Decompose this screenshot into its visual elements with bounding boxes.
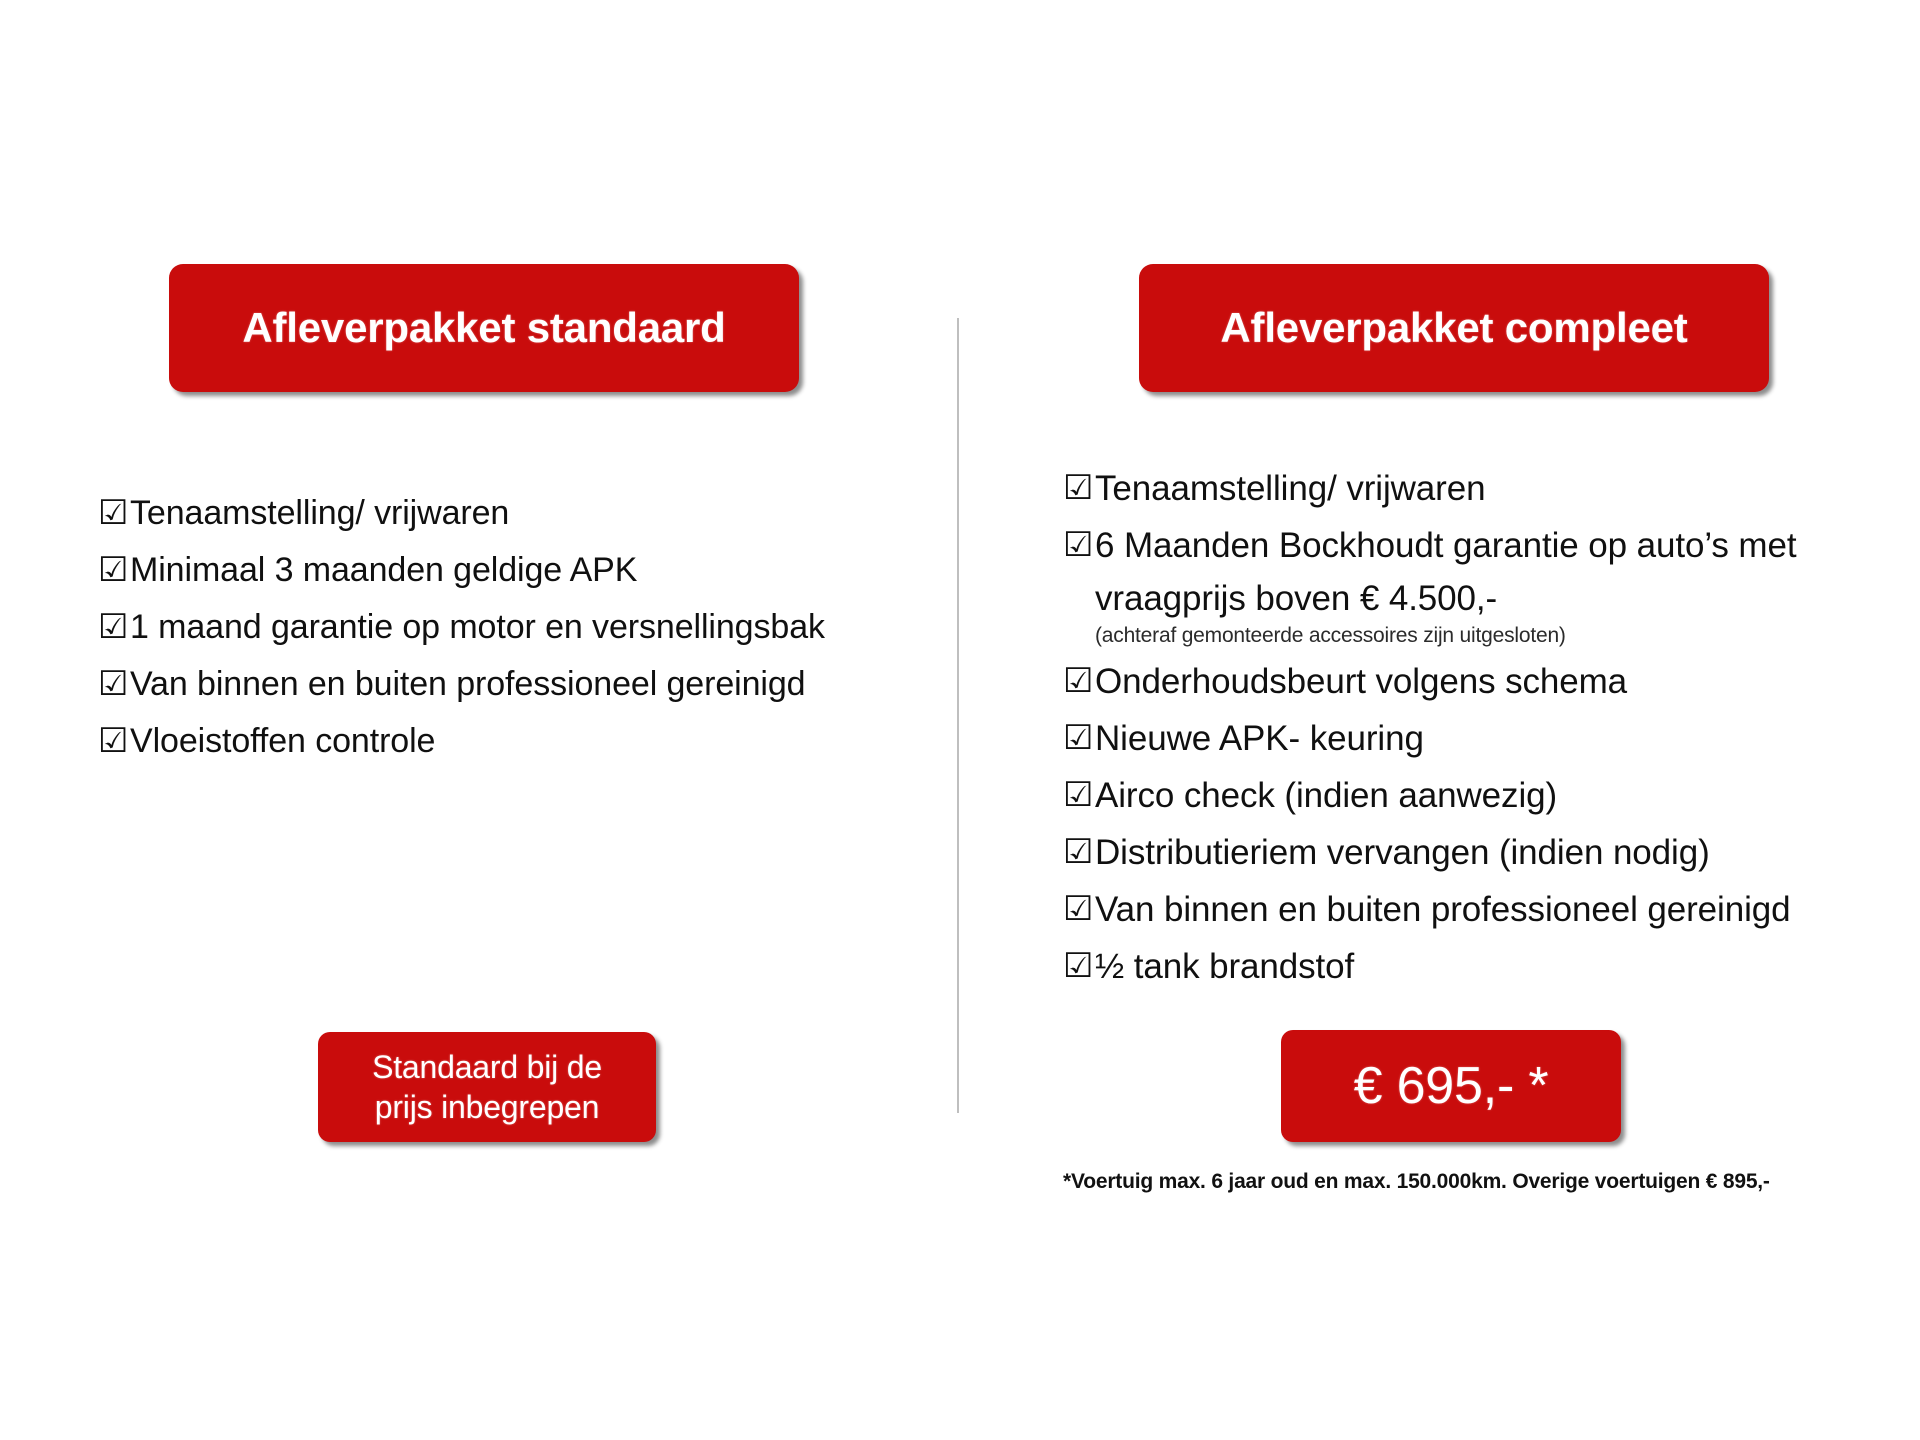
list-item: ☑ 6 Maanden Bockhoudt garantie op auto’s… [1063, 519, 1893, 651]
price-footnote: *Voertuig max. 6 jaar oud en max. 150.00… [1063, 1170, 1893, 1194]
checkbox-checked-icon: ☑ [1063, 826, 1095, 879]
feature-text: Tenaamstelling/ vrijwaren [1095, 462, 1893, 515]
feature-text: 1 maand garantie op motor en versnelling… [130, 601, 878, 654]
feature-list-compleet: ☑ Tenaamstelling/ vrijwaren ☑ 6 Maanden … [1063, 462, 1893, 997]
price-badge-line-2: prijs inbegrepen [375, 1087, 600, 1127]
list-item: ☑ Airco check (indien aanwezig) [1063, 769, 1893, 822]
checkbox-checked-icon: ☑ [98, 601, 130, 654]
feature-note: (achteraf gemonteerde accessoires zijn u… [1095, 621, 1893, 651]
list-item: ☑ Nieuwe APK- keuring [1063, 712, 1893, 765]
checkbox-checked-icon: ☑ [98, 487, 130, 540]
checkbox-checked-icon: ☑ [1063, 655, 1095, 708]
checkbox-checked-icon: ☑ [1063, 519, 1095, 572]
checkbox-checked-icon: ☑ [98, 544, 130, 597]
feature-text: Nieuwe APK- keuring [1095, 712, 1893, 765]
feature-text: Vloeistoffen controle [130, 715, 878, 768]
feature-text: Minimaal 3 maanden geldige APK [130, 544, 878, 597]
checkbox-checked-icon: ☑ [1063, 883, 1095, 936]
feature-text: Onderhoudsbeurt volgens schema [1095, 655, 1893, 708]
list-item: ☑ Onderhoudsbeurt volgens schema [1063, 655, 1893, 708]
list-item: ☑ Van binnen en buiten professioneel ger… [1063, 883, 1893, 936]
checkbox-checked-icon: ☑ [1063, 769, 1095, 822]
checkbox-checked-icon: ☑ [98, 715, 130, 768]
package-title-compleet: Afleverpakket compleet [1139, 264, 1769, 392]
feature-text: Tenaamstelling/ vrijwaren [130, 487, 878, 540]
column-divider [957, 318, 959, 1113]
list-item: ☑ Distributieriem vervangen (indien nodi… [1063, 826, 1893, 879]
feature-text: 6 Maanden Bockhoudt garantie op auto’s m… [1095, 519, 1893, 651]
checkbox-checked-icon: ☑ [1063, 712, 1095, 765]
package-title-standaard: Afleverpakket standaard [169, 264, 799, 392]
feature-text: Distributieriem vervangen (indien nodig) [1095, 826, 1893, 879]
feature-text: Airco check (indien aanwezig) [1095, 769, 1893, 822]
list-item: ☑ Tenaamstelling/ vrijwaren [1063, 462, 1893, 515]
feature-text: ½ tank brandstof [1095, 940, 1893, 993]
feature-text: Van binnen en buiten professioneel gerei… [130, 658, 878, 711]
price-badge-standaard: Standaard bij de prijs inbegrepen [318, 1032, 656, 1142]
list-item: ☑ Van binnen en buiten professioneel ger… [98, 658, 878, 711]
price-badge-compleet: € 695,- * [1281, 1030, 1621, 1142]
list-item: ☑ Minimaal 3 maanden geldige APK [98, 544, 878, 597]
checkbox-checked-icon: ☑ [1063, 940, 1095, 993]
feature-text: Van binnen en buiten professioneel gerei… [1095, 883, 1893, 936]
list-item: ☑ Tenaamstelling/ vrijwaren [98, 487, 878, 540]
feature-text-main: 6 Maanden Bockhoudt garantie op auto’s m… [1095, 526, 1796, 618]
list-item: ☑ Vloeistoffen controle [98, 715, 878, 768]
list-item: ☑ ½ tank brandstof [1063, 940, 1893, 993]
checkbox-checked-icon: ☑ [98, 658, 130, 711]
price-badge-line-1: Standaard bij de [372, 1047, 602, 1087]
checkbox-checked-icon: ☑ [1063, 462, 1095, 515]
list-item: ☑ 1 maand garantie op motor en versnelli… [98, 601, 878, 654]
slide-canvas: Afleverpakket standaard ☑ Tenaamstelling… [0, 0, 1920, 1440]
feature-list-standaard: ☑ Tenaamstelling/ vrijwaren ☑ Minimaal 3… [98, 487, 878, 772]
